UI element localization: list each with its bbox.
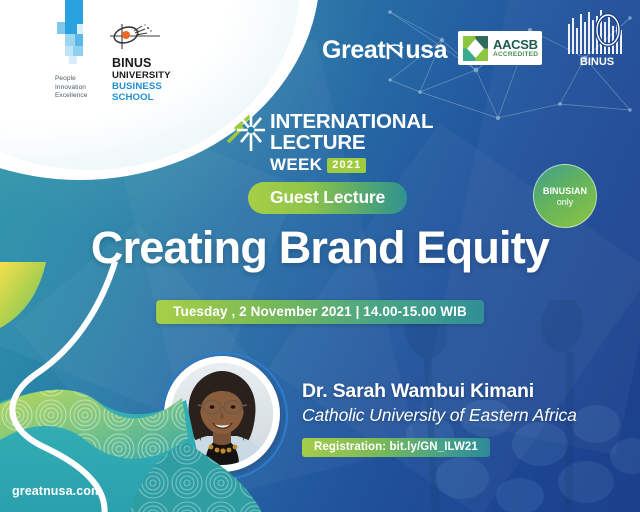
greatnusa-text-part-1: Great [322, 36, 385, 65]
ilw-year-badge: 2021 [327, 158, 366, 173]
greatnusa-logo: Great usa [322, 36, 447, 65]
binus-university: UNIVERSITY [112, 70, 197, 81]
greatnusa-text-part-2: usa [405, 36, 447, 65]
ilw-line-2: LECTURE [270, 132, 433, 154]
greatnusa-n-icon [385, 40, 405, 62]
pie-blocks-icon [57, 0, 93, 72]
pie-tagline-line-3: Excellence [55, 92, 109, 101]
international-lecture-week-logo: INTERNATIONAL LECTURE WEEK 2021 Guest Le… [226, 104, 436, 214]
binus-university-business-school-logo: BINUS UNIVERSITY BUSINESS SCHOOL [112, 23, 197, 103]
binus-name: BINUS [112, 57, 197, 70]
speaker-name: Dr. Sarah Wambui Kimani [302, 380, 577, 403]
aacsb-text: AACSB ACCREDITED [493, 38, 538, 59]
binus-orbit-icon [108, 23, 166, 51]
people-innovation-excellence-logo: People Innovation Excellence [47, 0, 109, 101]
aacsb-logo-icon [463, 36, 488, 61]
pie-tagline: People Innovation Excellence [47, 75, 109, 101]
binus-school: SCHOOL [112, 92, 197, 103]
aacsb-accredited-label: ACCREDITED [493, 52, 538, 59]
speaker-info: Dr. Sarah Wambui Kimani Catholic Univers… [302, 380, 577, 457]
ilw-line-1: INTERNATIONAL [270, 111, 433, 132]
speaker-affiliation: Catholic University of Eastern Africa [302, 405, 577, 426]
starburst-icon [224, 106, 268, 154]
website-url: greatnusa.com [12, 484, 102, 498]
binusian-only-badge: BINUSIAN only [533, 164, 597, 228]
aacsb-name: AACSB [493, 38, 538, 51]
aacsb-accredited-badge: AACSB ACCREDITED [458, 31, 542, 65]
pie-tagline-line-2: Innovation [55, 84, 109, 93]
registration-link-badge[interactable]: Registration: bit.ly/GN_ILW21 [302, 438, 490, 457]
binus40-label: BINUS [580, 56, 614, 68]
binusian-badge-line-2: only [557, 197, 574, 207]
poster-canvas: People Innovation Excellence BINUS UNIVE… [0, 0, 640, 512]
binus-wordmark: BINUS UNIVERSITY BUSINESS SCHOOL [112, 57, 197, 103]
guest-lecture-pill: Guest Lecture [248, 182, 407, 214]
binus-40th-anniversary-logo: BINUS [566, 8, 628, 68]
organic-swirl-decoration [0, 262, 300, 512]
pie-tagline-line-1: People [55, 75, 109, 84]
ilw-week-label: WEEK [270, 155, 322, 175]
binus-business: BUSINESS [112, 81, 197, 92]
binusian-badge-line-1: BINUSIAN [543, 186, 587, 196]
